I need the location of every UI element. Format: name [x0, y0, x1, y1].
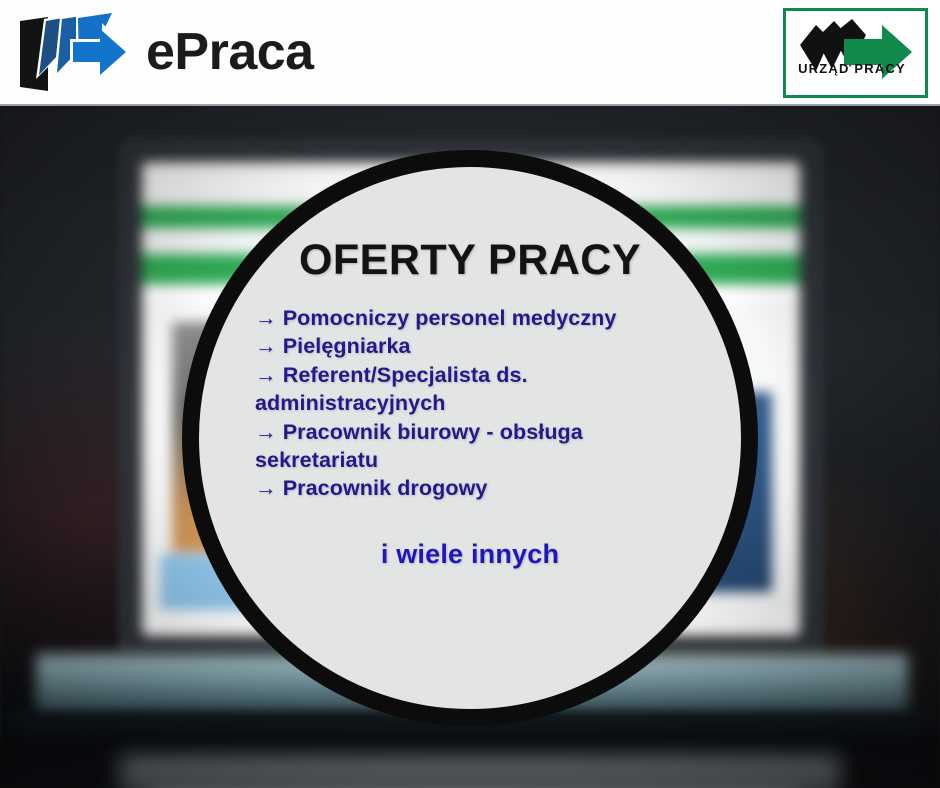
offers-list: → Pomocniczy personel medyczny → Pielęgn… [255, 304, 685, 503]
list-item: → Pracownik biurowy - obsługa sekretaria… [255, 418, 685, 475]
brand[interactable]: ePraca [14, 6, 314, 98]
arrow-icon: → [255, 334, 277, 358]
offer-label: Pielęgniarka [283, 334, 411, 358]
arrow-icon: → [255, 420, 277, 444]
brand-name: ePraca [146, 26, 314, 78]
list-item: → Pomocniczy personel medyczny [255, 304, 685, 332]
poster-root: ePraca URZĄD PRACY [0, 0, 940, 788]
urzad-pracy-logo-text: URZĄD PRACY [798, 61, 906, 76]
background-photo: OFERTY PRACY → Pomocniczy personel medyc… [0, 106, 940, 788]
list-item: → Referent/Specjalista ds. administracyj… [255, 361, 685, 418]
arrow-icon: → [255, 363, 277, 387]
badge-content: OFERTY PRACY → Pomocniczy personel medyc… [255, 239, 685, 570]
list-item: → Pielęgniarka [255, 332, 685, 360]
offer-label: Referent/Specjalista ds. administracyjny… [255, 363, 528, 415]
epraca-arrow-logo-icon [14, 9, 132, 95]
badge-title: OFERTY PRACY [255, 239, 685, 282]
badge-footer: i wiele innych [255, 539, 685, 570]
arrow-icon: → [255, 476, 277, 500]
list-item: → Pracownik drogowy [255, 474, 685, 502]
urzad-pracy-logo[interactable]: URZĄD PRACY [783, 8, 928, 98]
offers-circle-badge: OFERTY PRACY → Pomocniczy personel medyc… [182, 150, 758, 726]
arrow-icon: → [255, 306, 277, 330]
header-bar: ePraca URZĄD PRACY [0, 0, 940, 106]
offer-label: Pomocniczy personel medyczny [283, 306, 617, 330]
offer-label: Pracownik biurowy - obsługa sekretariatu [255, 420, 583, 472]
offer-label: Pracownik drogowy [283, 476, 488, 500]
header-divider [0, 104, 940, 106]
